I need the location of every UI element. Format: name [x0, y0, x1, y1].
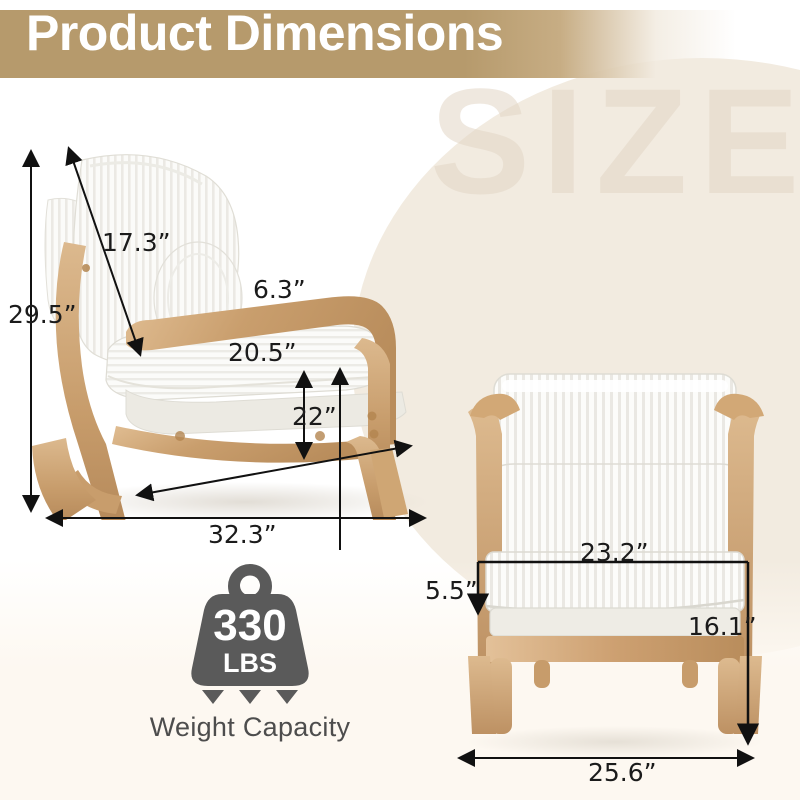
dimension-label-armrest-clearance: 6.3”	[253, 275, 306, 304]
dimension-label-armrest-height: 22”	[292, 402, 337, 431]
dimension-label-seat-width: 23.2”	[580, 538, 649, 567]
weight-capacity-caption: Weight Capacity	[120, 712, 380, 743]
dimension-label-overall-depth: 32.3”	[208, 520, 277, 549]
weight-unit: LBS	[223, 648, 277, 678]
down-arrow-icon-3	[276, 690, 298, 704]
product-dimensions-infographic: SIZE Product Dimensions	[0, 0, 800, 800]
down-arrow-icon-1	[202, 690, 224, 704]
weight-capacity-icon: 330 LBS	[172, 560, 328, 705]
weight-capacity-block: 330 LBS Weight Capacity	[120, 560, 380, 760]
dimension-label-backrest-length: 17.3”	[102, 228, 171, 257]
down-arrow-icon-2	[239, 690, 261, 704]
dimension-label-cushion-thickness: 5.5”	[425, 576, 478, 605]
weight-number: 330	[213, 601, 286, 650]
size-watermark-text: SIZE	[430, 66, 800, 216]
page-title: Product Dimensions	[26, 8, 503, 58]
dimension-label-seat-height: 16.1”	[688, 612, 757, 641]
dimension-label-seat-depth: 20.5”	[228, 338, 297, 367]
dimension-label-overall-width: 25.6”	[588, 758, 657, 787]
dimension-label-overall-height: 29.5”	[8, 300, 77, 329]
